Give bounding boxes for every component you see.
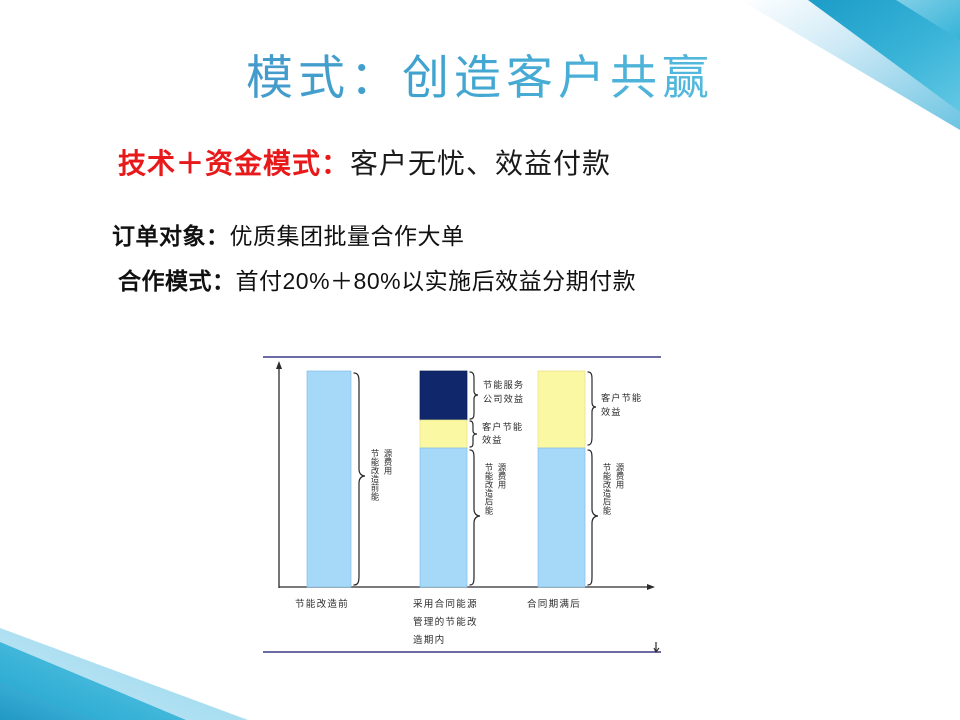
x-axis-label-2-line1: 采用合同能源 bbox=[413, 598, 478, 610]
headline: 技术＋资金模式：客户无忧、效益付款 bbox=[118, 146, 611, 181]
bar-3-bottom-brace-label-line1: 节能改造后能 bbox=[602, 463, 612, 515]
x-axis-label-2-line2: 管理的节能改 bbox=[413, 616, 478, 628]
slide-canvas: { "slide": { "title": "模式：创造客户共赢", "head… bbox=[0, 0, 960, 720]
bar-group-3: 客户节能 效益 节能改造后能 源费用 bbox=[538, 371, 642, 587]
bar-2-bottom-brace-label-line2: 源费用 bbox=[497, 463, 507, 490]
energy-saving-chart: 节能改造前能 源费用 节能服务 公司效益 客户节能 效益 节能改造后能 源费用 … bbox=[255, 345, 675, 665]
bar-1-brace-label-line2: 源费用 bbox=[383, 449, 393, 476]
list-item: 合作模式：首付20%＋80%以实施后效益分期付款 bbox=[112, 267, 912, 296]
bar-2-top-brace-label-line2: 公司效益 bbox=[483, 393, 524, 405]
x-axis-label-3: 合同期满后 bbox=[527, 598, 581, 610]
bar-3-top-brace-label-line1: 客户节能 bbox=[601, 392, 642, 404]
bar-3-bottom-brace bbox=[588, 450, 598, 585]
x-axis-label-1: 节能改造前 bbox=[295, 598, 349, 610]
x-axis-label-2-line3: 造期内 bbox=[413, 634, 445, 646]
page-title: 模式：创造客户共赢 bbox=[0, 52, 960, 106]
bar-3-bottom-brace-label-line2: 源费用 bbox=[615, 463, 625, 490]
bar-3-top-brace-label-line2: 效益 bbox=[601, 406, 622, 418]
headline-black-text: 客户无忧、效益付款 bbox=[350, 148, 611, 179]
bar-2-segment-customer-benefit bbox=[420, 420, 467, 448]
bullet-key: 合作模式： bbox=[118, 268, 236, 294]
bar-2-segment-esco-benefit bbox=[420, 371, 467, 420]
bar-2-top-brace bbox=[470, 372, 478, 419]
bar-2-mid-brace bbox=[470, 421, 477, 447]
list-item: 订单对象：优质集团批量合作大单 bbox=[112, 222, 912, 251]
bullet-key: 订单对象： bbox=[112, 223, 230, 249]
y-axis-arrow bbox=[276, 361, 282, 369]
bullet-list: 订单对象：优质集团批量合作大单 合作模式：首付20%＋80%以实施后效益分期付款 bbox=[112, 222, 912, 313]
x-axis-arrow bbox=[647, 584, 655, 590]
bar-2-top-brace-label-line1: 节能服务 bbox=[483, 379, 524, 391]
bar-2-mid-brace-label-line2: 效益 bbox=[482, 434, 503, 446]
bullet-value: 首付20%＋80%以实施后效益分期付款 bbox=[236, 268, 637, 294]
bar-1-segment-energy-cost-before bbox=[307, 371, 351, 587]
bar-3-top-brace bbox=[588, 372, 596, 445]
bar-1-brace-label: 节能改造前能 bbox=[370, 449, 380, 501]
bar-2-segment-energy-cost-after bbox=[420, 448, 467, 587]
bar-3-segment-customer-benefit bbox=[538, 371, 585, 448]
headline-red-text: 技术＋资金模式： bbox=[118, 148, 350, 179]
bar-1-brace bbox=[354, 373, 365, 585]
bar-2-bottom-brace-label-line1: 节能改造后能 bbox=[484, 463, 494, 515]
bullet-value: 优质集团批量合作大单 bbox=[230, 223, 465, 249]
bar-group-1: 节能改造前能 源费用 bbox=[307, 371, 393, 587]
bar-2-mid-brace-label-line1: 客户节能 bbox=[482, 421, 523, 433]
bar-2-bottom-brace bbox=[470, 450, 480, 585]
bar-group-2: 节能服务 公司效益 客户节能 效益 节能改造后能 源费用 bbox=[420, 371, 524, 587]
bar-3-segment-energy-cost-after bbox=[538, 448, 585, 587]
